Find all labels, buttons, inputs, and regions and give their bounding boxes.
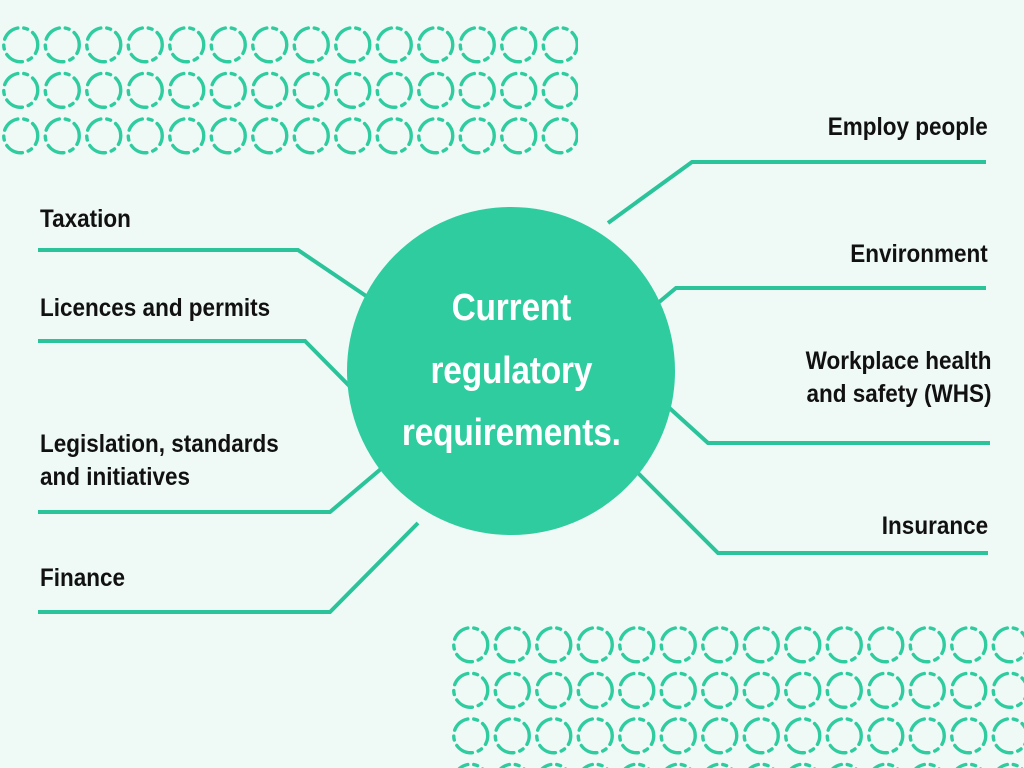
connector-environment [646,288,986,313]
branch-label-finance[interactable]: Finance [40,562,125,595]
central-hub: Current regulatory requirements. [347,207,675,535]
connector-employ-people [608,162,986,223]
branch-label-insurance[interactable]: Insurance [882,510,988,543]
branch-label-workplace-health-and-safety[interactable]: Workplace health and safety (WHS) [806,345,992,411]
branch-label-legislation-standards-and-initiatives[interactable]: Legislation, standards and initiatives [40,428,279,494]
branch-label-taxation[interactable]: Taxation [40,203,131,236]
central-hub-label: Current regulatory requirements. [395,277,628,465]
connector-licences-and-permits [38,341,378,415]
mind-map-canvas: Current regulatory requirements. Taxatio… [0,0,1024,768]
branch-label-employ-people[interactable]: Employ people [828,111,988,144]
branch-label-environment[interactable]: Environment [850,238,988,271]
branch-label-licences-and-permits[interactable]: Licences and permits [40,292,270,325]
